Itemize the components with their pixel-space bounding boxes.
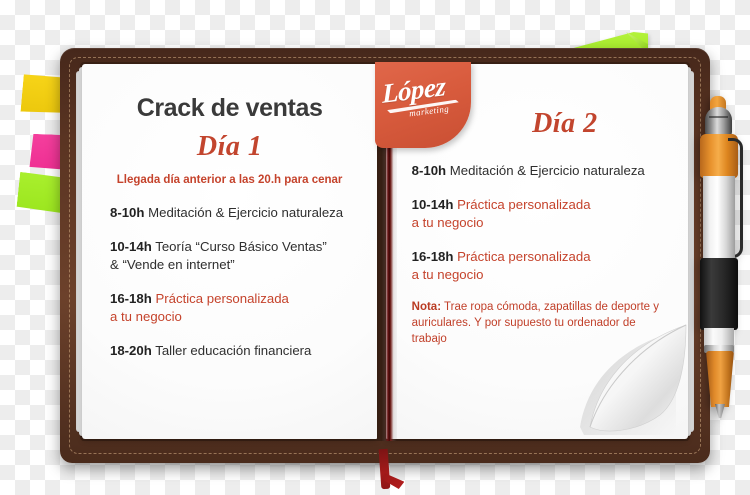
schedule-time: 8-10h: [412, 163, 446, 178]
schedule-time: 16-18h: [110, 291, 152, 306]
schedule-time: 18-20h: [110, 343, 152, 358]
schedule-time: 16-18h: [412, 249, 454, 264]
right-page: López marketing Día 2 8-10h Meditación &…: [386, 64, 688, 439]
schedule-text: Práctica personalizada: [457, 249, 590, 264]
red-ribbon-bookmark: [378, 449, 404, 495]
page-title: Crack de ventas: [102, 94, 357, 123]
schedule-time: 10-14h: [412, 197, 454, 212]
schedule-text: Teoría “Curso Básico Ventas”: [155, 239, 327, 254]
schedule-text-line2: & “Vende en internet”: [110, 257, 235, 272]
schedule-time: 8-10h: [110, 205, 144, 220]
day-label-left: Día 1: [102, 131, 357, 163]
schedule-time: 10-14h: [110, 239, 152, 254]
schedule-item: 10-14h Teoría “Curso Básico Ventas” & “V…: [110, 238, 357, 273]
note-block: Nota: Trae ropa cómoda, zapatillas de de…: [406, 300, 668, 348]
left-page-content: Crack de ventas Día 1 Llegada día anteri…: [82, 64, 377, 439]
schedule-item: 18-20h Taller educación financiera: [110, 342, 357, 359]
day-label-right: Día 2: [462, 108, 668, 140]
right-schedule-list: 8-10h Meditación & Ejercicio naturaleza …: [406, 162, 668, 283]
pen-chrome-cap: [705, 107, 732, 137]
schedule-item: 8-10h Meditación & Ejercicio naturaleza: [412, 162, 668, 179]
left-schedule-list: 8-10h Meditación & Ejercicio naturaleza …: [102, 204, 357, 360]
schedule-text: Práctica personalizada: [155, 291, 288, 306]
schedule-text: Práctica personalizada: [457, 197, 590, 212]
ballpoint-pen: [697, 96, 741, 418]
note-body: Trae ropa cómoda, zapatillas de deporte …: [412, 301, 659, 345]
lopez-marketing-logo: López marketing: [375, 62, 471, 148]
open-notebook: Crack de ventas Día 1 Llegada día anteri…: [60, 48, 710, 463]
schedule-item: 16-18h Práctica personalizada a tu negoc…: [110, 290, 357, 325]
pen-tip: [715, 404, 725, 418]
left-page: Crack de ventas Día 1 Llegada día anteri…: [82, 64, 377, 439]
left-page-subtitle: Llegada día anterior a las 20.h para cen…: [102, 174, 357, 186]
schedule-text-line2: a tu negocio: [110, 309, 182, 324]
note-label: Nota:: [412, 301, 441, 313]
pen-orange-cone: [706, 351, 734, 407]
schedule-text-line2: a tu negocio: [412, 215, 484, 230]
schedule-text: Taller educación financiera: [155, 343, 311, 358]
schedule-item: 8-10h Meditación & Ejercicio naturaleza: [110, 204, 357, 221]
pen-barrel: [703, 176, 735, 260]
schedule-item: 16-18h Práctica personalizada a tu negoc…: [412, 248, 668, 283]
schedule-text: Meditación & Ejercicio naturaleza: [148, 205, 343, 220]
pen-black-grip: [700, 258, 738, 330]
schedule-text-line2: a tu negocio: [412, 267, 484, 282]
schedule-item: 10-14h Práctica personalizada a tu negoc…: [412, 196, 668, 231]
illustration-canvas: Crack de ventas Día 1 Llegada día anteri…: [0, 0, 750, 495]
schedule-text: Meditación & Ejercicio naturaleza: [450, 163, 645, 178]
